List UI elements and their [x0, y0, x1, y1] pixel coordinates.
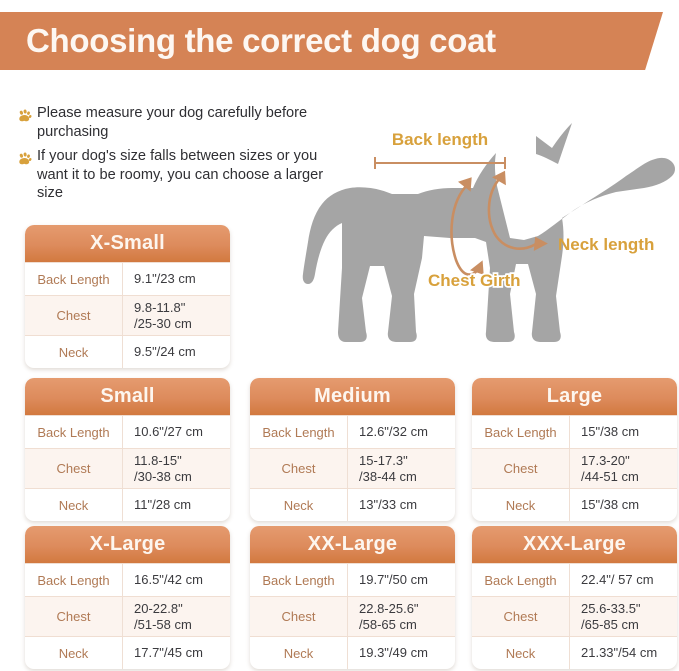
size-table-small: Small Back Length 10.6"/27 cm Chest 11.8…: [25, 378, 230, 521]
table-row: Back Length 15"/38 cm: [472, 415, 677, 448]
row-label: Chest: [472, 449, 570, 488]
paw-print-icon: [17, 108, 32, 123]
row-value: 22.4"/ 57 cm: [570, 564, 677, 596]
size-name: X-Small: [90, 232, 165, 255]
size-table-xx-large: XX-Large Back Length 19.7"/50 cm Chest 2…: [250, 526, 455, 669]
row-value: 16.5"/42 cm: [123, 564, 230, 596]
table-row: Back Length 22.4"/ 57 cm: [472, 563, 677, 596]
table-row: Chest 15-17.3" /38-44 cm: [250, 448, 455, 488]
size-name: Medium: [314, 385, 391, 408]
table-row: Chest 22.8-25.6" /58-65 cm: [250, 596, 455, 636]
row-value: 21.33"/54 cm: [570, 637, 677, 669]
row-value: 9.1"/23 cm: [123, 263, 230, 295]
note-text: If your dog's size falls between sizes o…: [37, 147, 327, 203]
size-name: XXX-Large: [523, 533, 626, 556]
row-label: Back Length: [25, 564, 123, 596]
table-row: Back Length 19.7"/50 cm: [250, 563, 455, 596]
row-value: 13"/33 cm: [348, 489, 455, 521]
table-row: Neck 9.5"/24 cm: [25, 335, 230, 368]
row-value: 15"/38 cm: [570, 416, 677, 448]
row-value: 9.8-11.8" /25-30 cm: [123, 296, 230, 335]
row-value: 19.7"/50 cm: [348, 564, 455, 596]
paw-print-icon: [17, 151, 32, 166]
row-label: Chest: [472, 597, 570, 636]
size-table-header: Large: [472, 378, 677, 415]
size-name: Large: [547, 385, 602, 408]
row-label: Chest: [25, 449, 123, 488]
size-table-header: Medium: [250, 378, 455, 415]
neck-length-label: Neck length: [558, 235, 654, 254]
row-label: Neck: [250, 637, 348, 669]
dog-silhouette-icon: [303, 123, 675, 342]
row-label: Chest: [25, 597, 123, 636]
row-value: 15"/38 cm: [570, 489, 677, 521]
row-value: 11"/28 cm: [123, 489, 230, 521]
row-value: 9.5"/24 cm: [123, 336, 230, 368]
row-label: Back Length: [25, 416, 123, 448]
table-row: Chest 20-22.8" /51-58 cm: [25, 596, 230, 636]
row-label: Back Length: [472, 416, 570, 448]
row-label: Neck: [25, 637, 123, 669]
row-label: Neck: [472, 489, 570, 521]
note-item: If your dog's size falls between sizes o…: [17, 147, 327, 203]
size-name: X-Large: [90, 533, 166, 556]
row-label: Neck: [472, 637, 570, 669]
size-table-x-small: X-Small Back Length 9.1"/23 cm Chest 9.8…: [25, 225, 230, 368]
row-label: Back Length: [472, 564, 570, 596]
row-label: Neck: [25, 336, 123, 368]
row-value: 25.6-33.5" /65-85 cm: [570, 597, 677, 636]
row-value: 17.7"/45 cm: [123, 637, 230, 669]
table-row: Back Length 12.6"/32 cm: [250, 415, 455, 448]
row-value: 17.3-20" /44-51 cm: [570, 449, 677, 488]
row-value: 19.3"/49 cm: [348, 637, 455, 669]
size-table-xxx-large: XXX-Large Back Length 22.4"/ 57 cm Chest…: [472, 526, 677, 669]
table-row: Neck 11"/28 cm: [25, 488, 230, 521]
table-row: Neck 19.3"/49 cm: [250, 636, 455, 669]
table-row: Chest 11.8-15" /30-38 cm: [25, 448, 230, 488]
row-value: 11.8-15" /30-38 cm: [123, 449, 230, 488]
row-label: Chest: [25, 296, 123, 335]
size-table-large: Large Back Length 15"/38 cm Chest 17.3-2…: [472, 378, 677, 521]
row-value: 12.6"/32 cm: [348, 416, 455, 448]
back-length-label: Back length: [392, 130, 488, 149]
size-name: Small: [100, 385, 154, 408]
row-label: Back Length: [25, 263, 123, 295]
row-label: Neck: [250, 489, 348, 521]
row-label: Chest: [250, 597, 348, 636]
row-label: Chest: [250, 449, 348, 488]
chest-girth-label: Chest Girth: [428, 271, 521, 290]
table-row: Chest 9.8-11.8" /25-30 cm: [25, 295, 230, 335]
size-name: XX-Large: [308, 533, 397, 556]
size-table-header: X-Large: [25, 526, 230, 563]
header-banner: Choosing the correct dog coat: [0, 12, 663, 70]
size-table-header: Small: [25, 378, 230, 415]
row-value: 10.6"/27 cm: [123, 416, 230, 448]
size-table-header: XX-Large: [250, 526, 455, 563]
dog-measurement-diagram: Back length Chest Girth Neck length: [300, 118, 679, 363]
size-table-medium: Medium Back Length 12.6"/32 cm Chest 15-…: [250, 378, 455, 521]
table-row: Chest 17.3-20" /44-51 cm: [472, 448, 677, 488]
page-title: Choosing the correct dog coat: [26, 22, 496, 60]
row-value: 15-17.3" /38-44 cm: [348, 449, 455, 488]
table-row: Neck 15"/38 cm: [472, 488, 677, 521]
row-label: Neck: [25, 489, 123, 521]
note-item: Please measure your dog carefully before…: [17, 104, 327, 141]
row-label: Back Length: [250, 416, 348, 448]
note-text: Please measure your dog carefully before…: [37, 104, 327, 141]
row-value: 20-22.8" /51-58 cm: [123, 597, 230, 636]
size-table-x-large: X-Large Back Length 16.5"/42 cm Chest 20…: [25, 526, 230, 669]
table-row: Back Length 10.6"/27 cm: [25, 415, 230, 448]
table-row: Neck 21.33"/54 cm: [472, 636, 677, 669]
measurement-notes: Please measure your dog carefully before…: [17, 104, 327, 209]
size-table-header: XXX-Large: [472, 526, 677, 563]
row-label: Back Length: [250, 564, 348, 596]
table-row: Neck 13"/33 cm: [250, 488, 455, 521]
table-row: Chest 25.6-33.5" /65-85 cm: [472, 596, 677, 636]
table-row: Back Length 16.5"/42 cm: [25, 563, 230, 596]
row-value: 22.8-25.6" /58-65 cm: [348, 597, 455, 636]
table-row: Neck 17.7"/45 cm: [25, 636, 230, 669]
size-table-header: X-Small: [25, 225, 230, 262]
table-row: Back Length 9.1"/23 cm: [25, 262, 230, 295]
